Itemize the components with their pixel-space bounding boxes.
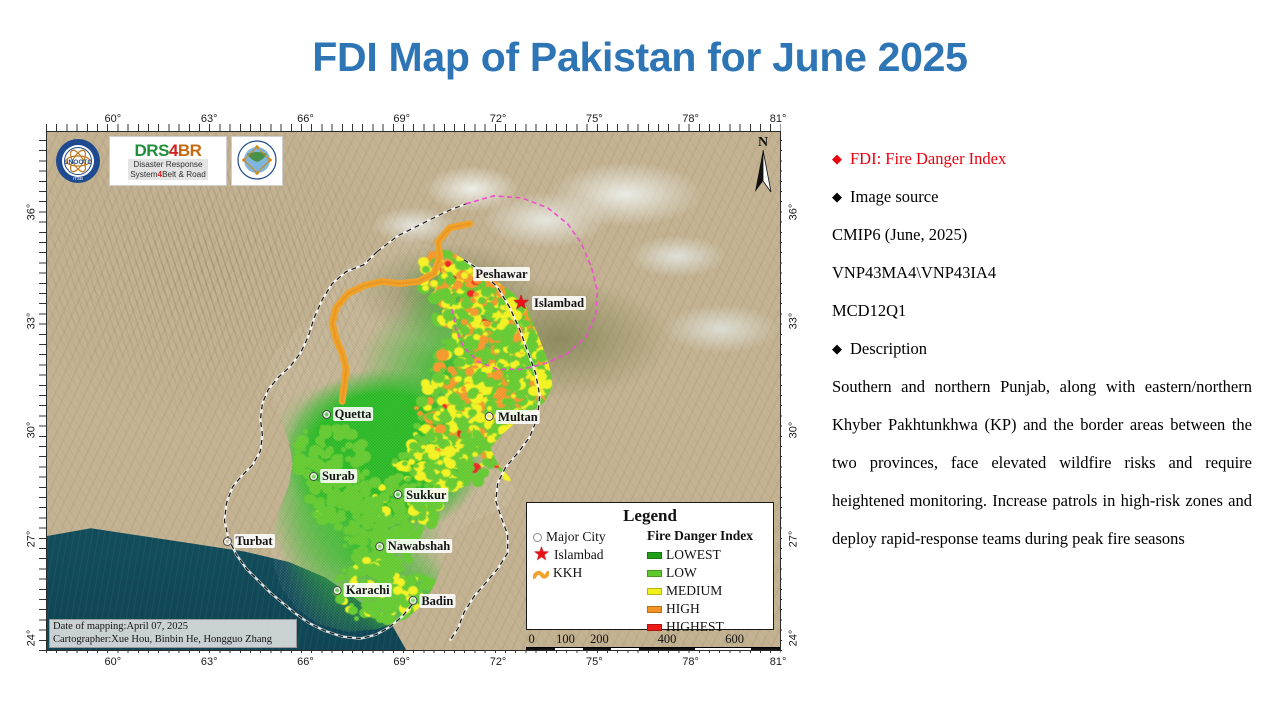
map-legend: Legend Major City ★ Islambad <box>526 502 774 630</box>
lon-tick-label: 63° <box>201 656 218 668</box>
diamond-bullet-icon: ◆ <box>832 341 842 356</box>
north-arrow-label: N <box>758 136 768 149</box>
source-item: VNP43MA4\VNP43IA4 <box>832 254 1252 292</box>
capital-star-icon: ★ <box>512 296 530 310</box>
info-panel: ◆FDI: Fire Danger Index ◆Image source CM… <box>832 140 1252 558</box>
city-marker-peshawar[interactable]: Peshawar <box>473 267 529 281</box>
logo-bar: UNOOTC ITSB DRS4BR Disaster Response Sys… <box>51 136 283 186</box>
map-figure: 60° 63° 66° 69° 72° 75° 78° 81° 60° 63° … <box>22 110 812 690</box>
lon-tick-label: 78° <box>682 113 699 125</box>
image-source-heading: Image source <box>850 187 938 206</box>
lon-tick-label: 60° <box>105 656 122 668</box>
lon-tick-label: 63° <box>201 113 218 125</box>
legend-fdi-lowest: LOWEST <box>647 546 767 564</box>
longitude-axis-bottom: 60° 63° 66° 69° 72° 75° 78° 81° <box>46 652 781 672</box>
fdi-swatch-medium <box>647 588 662 595</box>
city-dot-icon <box>408 596 417 605</box>
legend-label: Major City <box>546 529 606 545</box>
unootc-badge-icon: UNOOTC ITSB <box>51 136 105 186</box>
drs-word-part: 4 <box>169 141 178 160</box>
legend-label: Islambad <box>554 547 604 563</box>
source-item: CMIP6 (June, 2025) <box>832 216 1252 254</box>
drs-word-part: DRS <box>135 141 169 160</box>
description-text: Southern and northern Punjab, along with… <box>832 368 1252 558</box>
credits-date: Date of mapping:April 07, 2025 <box>53 621 293 634</box>
kkh-route-icon <box>533 568 549 579</box>
lon-tick-label: 81° <box>770 113 787 125</box>
lon-tick-label: 72° <box>490 656 507 668</box>
city-label: Badin <box>419 594 455 608</box>
lat-tick-label: 36° <box>787 203 799 220</box>
drs-word-part: BR <box>178 141 202 160</box>
legend-label: HIGH <box>666 601 700 617</box>
legend-fdi-column: Fire Danger Index LOWEST LOW MEDIUM <box>647 528 767 636</box>
city-label: Islambad <box>532 296 586 310</box>
city-dot-icon <box>393 490 402 499</box>
lon-tick-label: 75° <box>586 113 603 125</box>
city-dot-icon <box>322 410 331 419</box>
legend-body: Major City ★ Islambad KKH <box>533 528 767 636</box>
diamond-bullet-icon: ◆ <box>832 151 842 166</box>
description-heading-line: ◆Description <box>832 330 1252 368</box>
city-marker-turbat[interactable]: Turbat <box>223 534 275 548</box>
lat-tick-label: 27° <box>787 531 799 548</box>
city-label: Multan <box>496 410 540 424</box>
lat-tick-label: 24° <box>25 630 37 647</box>
lat-tick-label: 30° <box>25 422 37 439</box>
source-item: MCD12Q1 <box>832 292 1252 330</box>
city-dot-icon <box>375 542 384 551</box>
lon-tick-label: 81° <box>770 656 787 668</box>
legend-fdi-high: HIGH <box>647 600 767 618</box>
city-marker-badin[interactable]: Badin <box>408 594 455 608</box>
city-marker-multan[interactable]: Multan <box>485 410 540 424</box>
legend-label: LOWEST <box>666 547 721 563</box>
city-marker-islambad[interactable]: ★ Islambad <box>512 296 586 310</box>
legend-title: Legend <box>533 506 767 526</box>
north-arrow: N <box>750 136 776 194</box>
city-dot-icon <box>485 412 494 421</box>
page-title: FDI Map of Pakistan for June 2025 <box>0 34 1280 81</box>
globe-logo-icon <box>231 136 283 186</box>
capital-star-icon: ★ <box>533 548 550 562</box>
drs-sub2c: Belt & Road <box>162 170 206 179</box>
legend-label: KKH <box>553 565 582 581</box>
fdi-swatch-low <box>647 570 662 577</box>
scale-label: 0 <box>529 632 535 647</box>
city-dot-icon <box>223 537 232 546</box>
drs4br-logo: DRS4BR Disaster Response System4Belt & R… <box>109 136 227 186</box>
legend-fdi-low: LOW <box>647 564 767 582</box>
legend-label: LOW <box>666 565 697 581</box>
map-scalebar: 0 100 200 400 600 800 km <box>526 632 781 651</box>
city-marker-karachi[interactable]: Karachi <box>333 583 392 597</box>
legend-fdi-medium: MEDIUM <box>647 582 767 600</box>
longitude-axis-top: 60° 63° 66° 69° 72° 75° 78° 81° <box>46 113 781 131</box>
city-marker-nawabshah[interactable]: Nawabshah <box>375 539 453 553</box>
lat-tick-label: 30° <box>787 422 799 439</box>
image-source-heading-line: ◆Image source <box>832 178 1252 216</box>
lat-tick-label: 24° <box>787 630 799 647</box>
city-marker-quetta[interactable]: Quetta <box>322 407 374 421</box>
city-label: Turbat <box>234 534 275 548</box>
diamond-bullet-icon: ◆ <box>832 189 842 204</box>
map-canvas[interactable]: Peshawar ★ Islambad Quetta Multan Surab <box>46 131 781 651</box>
city-marker-sukkur[interactable]: Sukkur <box>393 488 448 502</box>
lon-tick-label: 60° <box>105 113 122 125</box>
city-label: Nawabshah <box>386 539 453 553</box>
lat-tick-label: 33° <box>787 312 799 329</box>
fdi-swatch-lowest <box>647 552 662 559</box>
legend-item-kkh: KKH <box>533 564 641 582</box>
legend-label: MEDIUM <box>666 583 722 599</box>
lon-tick-label: 69° <box>393 656 410 668</box>
lon-tick-label: 69° <box>393 113 410 125</box>
city-marker-surab[interactable]: Surab <box>309 469 357 483</box>
svg-text:ITSB: ITSB <box>73 176 83 181</box>
description-heading: Description <box>850 339 927 358</box>
legend-symbols-column: Major City ★ Islambad KKH <box>533 528 641 636</box>
lat-tick-label: 36° <box>25 203 37 220</box>
major-city-icon <box>533 533 542 542</box>
scale-label: 100 <box>556 632 575 647</box>
legend-fdi-heading: Fire Danger Index <box>647 528 767 546</box>
city-dot-icon <box>333 586 342 595</box>
drs-subtitle: Disaster Response System4Belt & Road <box>128 159 208 180</box>
city-dot-icon <box>309 472 318 481</box>
lon-tick-label: 75° <box>586 656 603 668</box>
lon-tick-label: 66° <box>297 113 314 125</box>
drs-subtitle-line2: System4Belt & Road <box>130 170 206 179</box>
slide-canvas: FDI Map of Pakistan for June 2025 60° 63… <box>0 0 1280 720</box>
drs4br-wordmark: DRS4BR <box>128 142 208 159</box>
city-label: Surab <box>320 469 357 483</box>
lon-tick-label: 66° <box>297 656 314 668</box>
lon-tick-label: 72° <box>490 113 507 125</box>
map-credits: Date of mapping:April 07, 2025 Cartograp… <box>49 619 297 648</box>
north-arrow-icon <box>753 149 773 193</box>
fdi-definition-text: FDI: Fire Danger Index <box>850 149 1006 168</box>
city-label: Sukkur <box>404 488 448 502</box>
city-label: Quetta <box>333 407 374 421</box>
drs-sub2a: System <box>130 170 157 179</box>
lon-tick-label: 78° <box>682 656 699 668</box>
scalebar-labels: 0 100 200 400 600 800 <box>526 632 781 647</box>
latitude-axis-left: 36° 33° 30° 27° 24° <box>24 131 46 651</box>
latitude-axis-right: 36° 33° 30° 27° 24° <box>782 131 804 651</box>
fdi-swatch-high <box>647 606 662 613</box>
fdi-swatch-highest <box>647 624 662 631</box>
lat-tick-label: 33° <box>25 312 37 329</box>
city-label: Peshawar <box>473 267 529 281</box>
city-label: Karachi <box>344 583 392 597</box>
credits-cartographer: Cartographer:Xue Hou, Binbin He, Hongguo… <box>53 634 293 647</box>
legend-item-islambad: ★ Islambad <box>533 546 641 564</box>
scale-label: 400 <box>658 632 677 647</box>
scale-label: 200 <box>590 632 609 647</box>
fdi-definition-line: ◆FDI: Fire Danger Index <box>832 140 1252 178</box>
scalebar-track <box>526 647 781 651</box>
scale-label: 600 <box>725 632 744 647</box>
svg-text:UNOOTC: UNOOTC <box>64 159 92 166</box>
drs-subtitle-line1: Disaster Response <box>130 160 206 169</box>
lat-tick-label: 27° <box>25 531 37 548</box>
